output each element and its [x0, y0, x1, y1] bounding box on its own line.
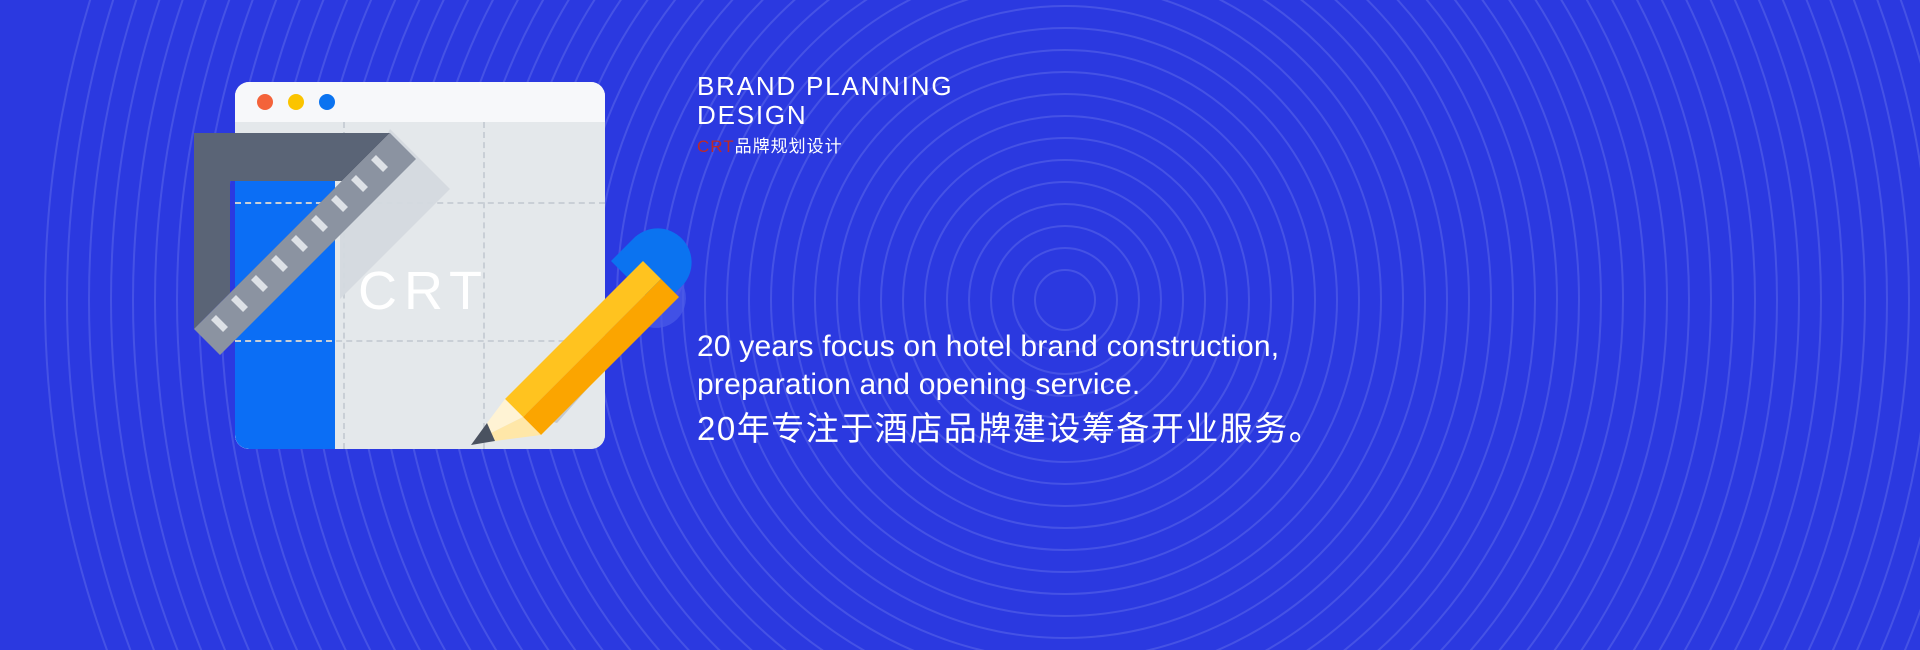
headline-line-1: BRAND PLANNING: [697, 72, 953, 101]
brand-banner: CRT: [0, 0, 1920, 650]
minimize-dot: [288, 94, 304, 110]
tagline-block: 20 years focus on hotel brand constructi…: [697, 328, 1597, 454]
tagline-cn-line: 20年专注于酒店品牌建设筹备开业服务。: [697, 404, 1597, 454]
subtitle-brand: CRT: [697, 137, 735, 156]
tagline-en-line-1: 20 years focus on hotel brand constructi…: [697, 328, 1597, 366]
triangle-ruler-icon: [190, 129, 450, 389]
design-illustration: CRT: [190, 82, 690, 457]
headline-block: BRAND PLANNING DESIGN CRT品牌规划设计: [697, 72, 953, 158]
pencil-icon: [465, 227, 695, 457]
maximize-dot: [319, 94, 335, 110]
headline-line-2: DESIGN: [697, 101, 953, 130]
subtitle-chinese: 品牌规划设计: [735, 137, 843, 156]
browser-titlebar: [235, 82, 605, 122]
close-dot: [257, 94, 273, 110]
headline-subtitle: CRT品牌规划设计: [697, 136, 953, 158]
tagline-en-line-2: preparation and opening service.: [697, 366, 1597, 404]
